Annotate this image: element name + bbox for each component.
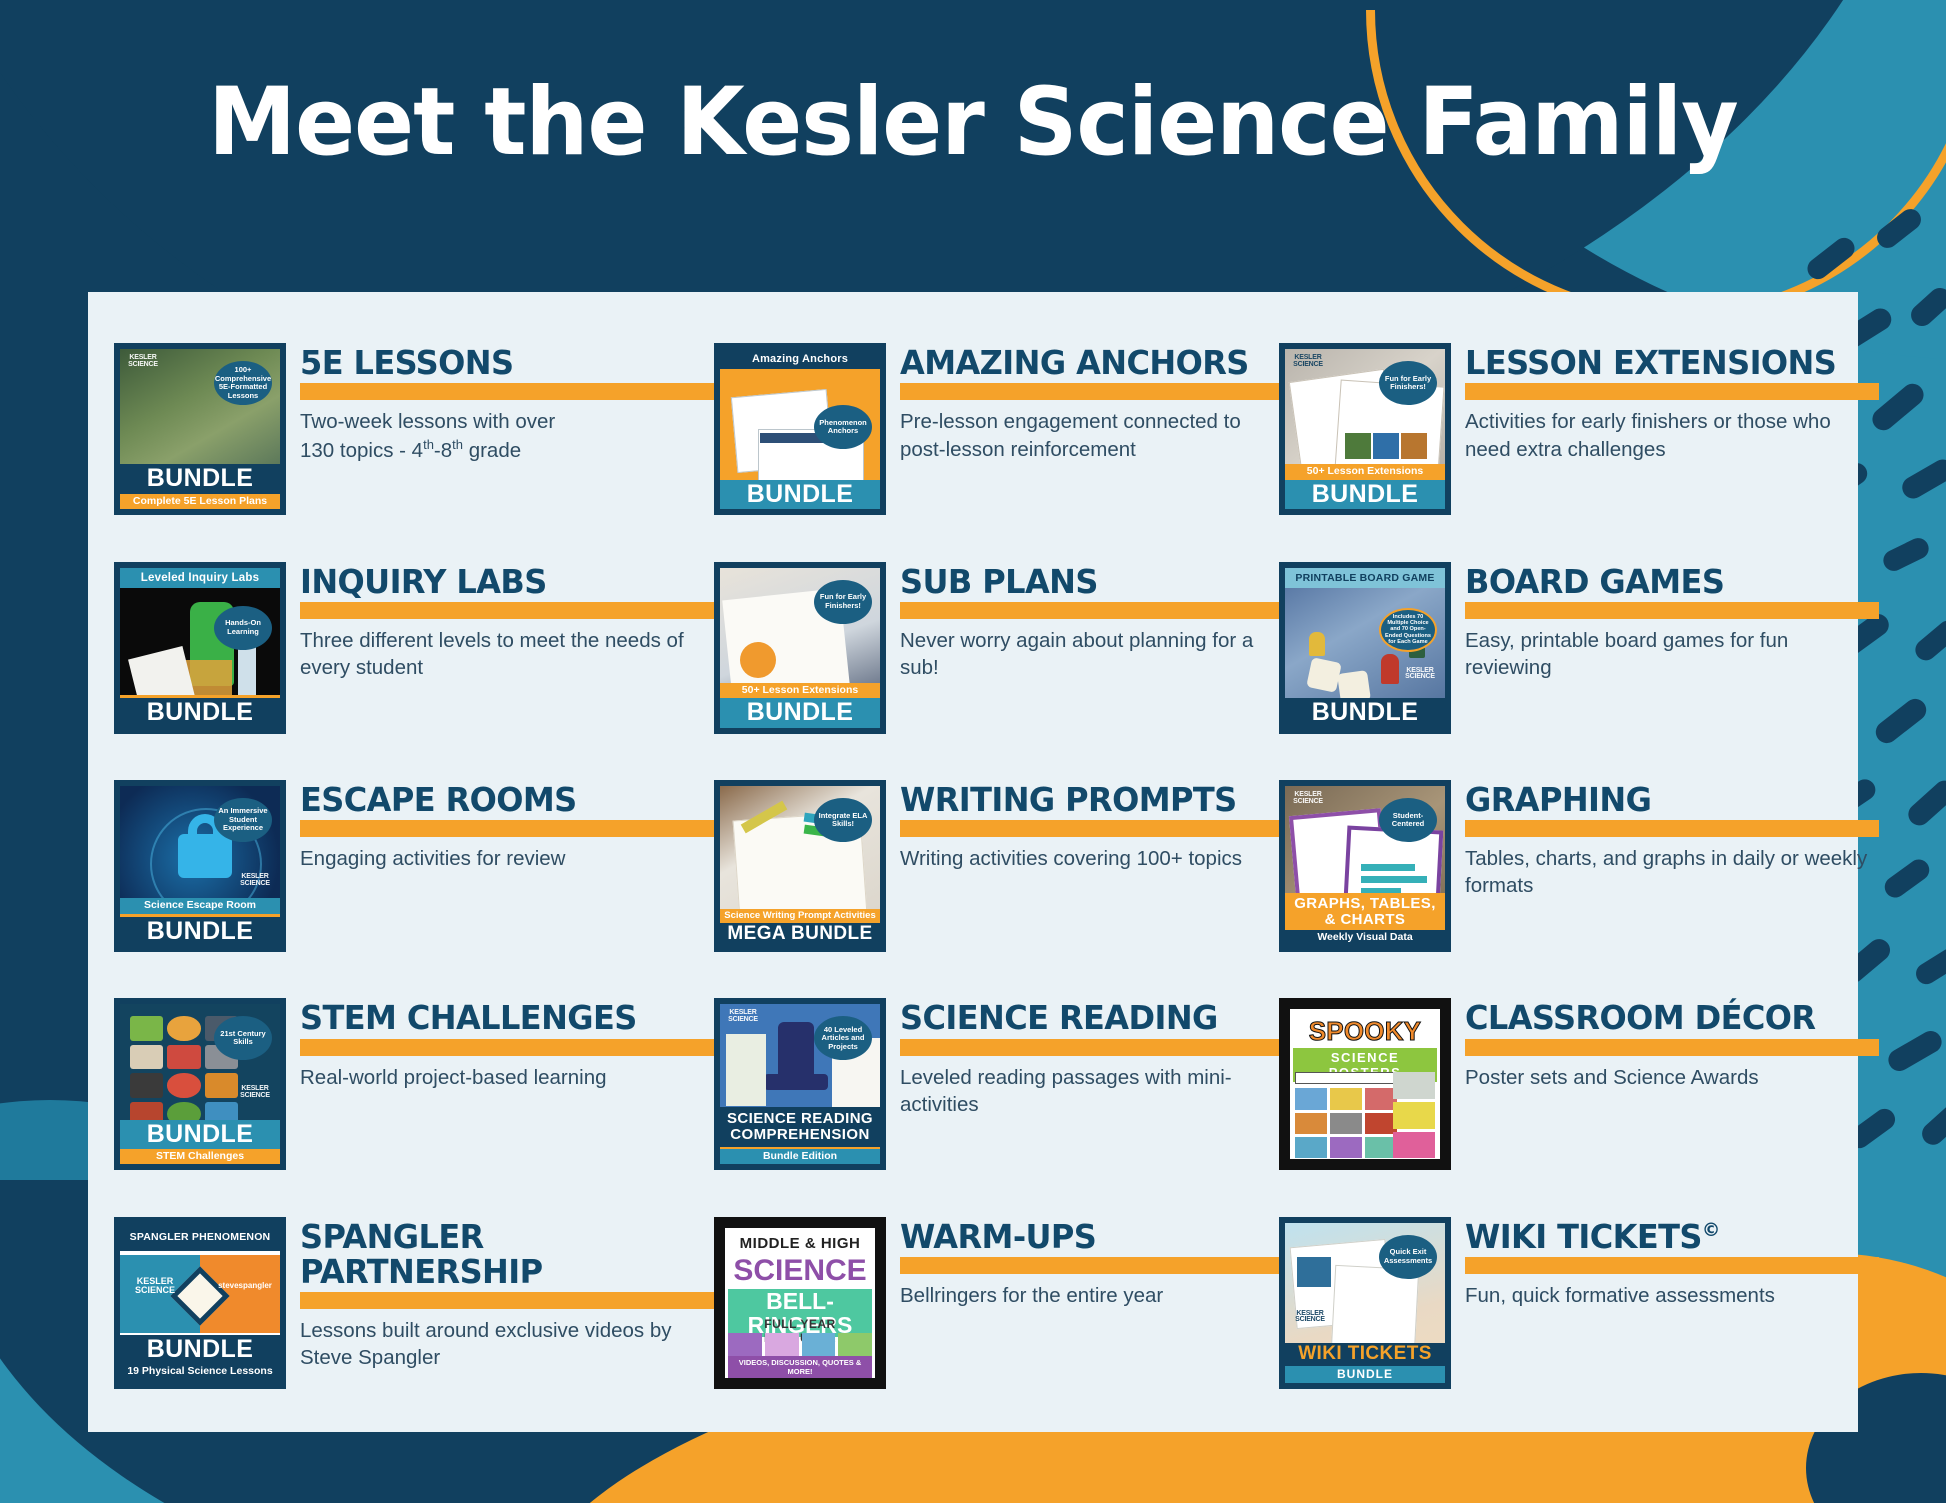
product-info: AMAZING ANCHORS Pre-lesson engagement co…	[900, 343, 1279, 462]
thumbnail-bundle-bar: Science Writing Prompt Activities MEGA B…	[720, 909, 880, 946]
page-title: Meet the Kesler Science Family	[58, 68, 1887, 177]
orange-underline	[300, 602, 714, 619]
product-description: Activities for early finishers or those …	[1465, 408, 1879, 462]
product-description: Lessons built around exclusive videos by…	[300, 1317, 714, 1371]
product-description: Three different levels to meet the needs…	[300, 627, 714, 681]
product-info: WIKI TICKETS© Fun, quick formative asses…	[1465, 1217, 1879, 1309]
orange-underline	[1465, 602, 1879, 619]
bundle-sublabel: Complete 5E Lesson Plans	[120, 494, 280, 510]
orange-underline	[900, 1257, 1279, 1274]
product-thumbnail-sub-plans[interactable]: Fun for Early Finishers! 50+ Lesson Exte…	[714, 562, 886, 734]
product-thumbnail-warm-ups[interactable]: MIDDLE & HIGH SCIENCE BELL-RINGERS FULL …	[714, 1217, 886, 1389]
kesler-science-logo-icon: KESLERSCIENCE	[238, 1086, 272, 1106]
thumbnail-bundle-bar: BUNDLE	[120, 695, 280, 727]
thumbnail-bundle-bar: 50+ Lesson Extensions BUNDLE	[1285, 464, 1445, 509]
product-description: Never worry again about planning for a s…	[900, 627, 1279, 681]
product-heading: ESCAPE ROOMS	[300, 782, 702, 817]
bundle-sublabel: BUNDLE	[1285, 1366, 1445, 1383]
thumbnail-badge: Fun for Early Finishers!	[1379, 361, 1437, 405]
product-info: 5E LESSONS Two-week lessons with over130…	[300, 343, 714, 463]
thumbnail-badge: Phenomenon Anchors	[814, 405, 872, 449]
product-thumbnail-inquiry-labs[interactable]: KESLERSCIENCE Leveled Inquiry Labs Hands…	[114, 562, 286, 734]
product-card-inquiry-labs[interactable]: KESLERSCIENCE Leveled Inquiry Labs Hands…	[114, 562, 714, 734]
poster-canvas: Meet the Kesler Science Family KESLERSCI…	[0, 0, 1946, 1503]
desc-line-2a: 130 topics - 4	[300, 438, 423, 461]
collage-caption: VIDEOS, DISCUSSION, QUOTES & MORE!	[728, 1356, 872, 1378]
thumbnail-top-tag: MIDDLE & HIGH	[728, 1231, 872, 1256]
bundle-label: WIKI TICKETS	[1285, 1343, 1445, 1366]
thumbnail-bundle-bar: 50+ Lesson Extensions BUNDLE	[720, 683, 880, 728]
thumbnail-bundle-bar: GRAPHS, TABLES, & CHARTS Weekly Visual D…	[1285, 893, 1445, 946]
bundle-sublabel: STEM Challenges	[120, 1149, 280, 1165]
product-card-writing-prompts[interactable]: Integrate ELA Skills! Science Writing Pr…	[714, 780, 1279, 952]
bundle-label: BUNDLE	[1285, 480, 1445, 509]
orange-underline	[900, 1039, 1279, 1056]
product-info: SPANGLER PARTNERSHIP Lessons built aroun…	[300, 1217, 714, 1372]
product-info: ESCAPE ROOMS Engaging activities for rev…	[300, 780, 714, 872]
kesler-science-logo-icon: KESLERSCIENCE	[1403, 668, 1437, 688]
product-description: Easy, printable board games for fun revi…	[1465, 627, 1879, 681]
product-thumbnail-lesson-extensions[interactable]: KESLERSCIENCE Fun for Early Finishers! 5…	[1279, 343, 1451, 515]
product-card-classroom-decor[interactable]: SPOOKY SCIENCE POSTERS CLASSROOM DÉCOR	[1279, 998, 1879, 1170]
product-description: Two-week lessons with over130 topics - 4…	[300, 408, 714, 463]
product-info: SUB PLANS Never worry again about planni…	[900, 562, 1279, 681]
poster-collage	[1295, 1088, 1397, 1158]
orange-underline	[300, 1039, 714, 1056]
kesler-science-logo-icon: KESLERSCIENCE	[726, 1010, 760, 1030]
thumbnail-badge: An Immersive Student Experience	[214, 798, 272, 842]
products-panel: KESLERSCIENCE 100+ Comprehensive 5E-Form…	[88, 292, 1858, 1432]
thumbnail-top-tag: Amazing Anchors	[720, 349, 880, 369]
product-description: Pre-lesson engagement connected to post-…	[900, 408, 1279, 462]
thumbnail-top-tag: PRINTABLE BOARD GAME	[1285, 568, 1445, 588]
product-heading: WIKI TICKETS©	[1465, 1219, 1867, 1254]
product-heading: WRITING PROMPTS	[900, 782, 1268, 817]
product-card-spangler-partnership[interactable]: KESLERSCIENCE stevespangler SPANGLER PHE…	[114, 1217, 714, 1389]
bundle-label: BUNDLE	[720, 698, 880, 727]
product-card-escape-rooms[interactable]: KESLERSCIENCE An Immersive Student Exper…	[114, 780, 714, 952]
product-card-graphing[interactable]: KESLERSCIENCE Student-Centered GRAPHS, T…	[1279, 780, 1879, 952]
bundle-sublabel: Bundle Edition	[720, 1149, 880, 1165]
product-description: Engaging activities for review	[300, 845, 714, 872]
product-heading: 5E LESSONS	[300, 345, 702, 380]
bundle-sublabel: 50+ Lesson Extensions	[720, 683, 880, 699]
thumbnail-badge: Fun for Early Finishers!	[814, 580, 872, 624]
product-description: Writing activities covering 100+ topics	[900, 845, 1279, 872]
thumbnail-badge: Hands-On Learning	[214, 606, 272, 650]
kesler-science-logo-icon: KESLERSCIENCE	[238, 874, 272, 894]
product-heading: WARM-UPS	[900, 1219, 1268, 1254]
product-thumbnail-classroom-decor[interactable]: SPOOKY SCIENCE POSTERS	[1279, 998, 1451, 1170]
kesler-science-logo-icon: KESLERSCIENCE	[1293, 1311, 1327, 1331]
thumbnail-top-tag: SPOOKY	[1293, 1012, 1437, 1051]
bundle-label: BUNDLE	[120, 1120, 280, 1149]
product-heading: INQUIRY LABS	[300, 564, 702, 599]
thumbnail-bundle-bar: WIKI TICKETS BUNDLE	[1285, 1343, 1445, 1383]
kesler-science-logo-icon: KESLERSCIENCE	[1291, 355, 1325, 375]
product-info: GRAPHING Tables, charts, and graphs in d…	[1465, 780, 1879, 899]
thumbnail-bundle-bar: BUNDLE 19 Physical Science Lessons	[120, 1335, 280, 1383]
thumbnail-bundle-bar: BUNDLE	[1285, 698, 1445, 727]
product-card-sub-plans[interactable]: Fun for Early Finishers! 50+ Lesson Exte…	[714, 562, 1279, 734]
product-thumbnail-wiki-tickets[interactable]: KESLERSCIENCE Quick Exit Assessments WIK…	[1279, 1217, 1451, 1389]
product-description: Leveled reading passages with mini-activ…	[900, 1064, 1279, 1118]
product-info: LESSON EXTENSIONS Activities for early f…	[1465, 343, 1879, 462]
product-info: BOARD GAMES Easy, printable board games …	[1465, 562, 1879, 681]
product-heading: SPANGLER PARTNERSHIP	[300, 1219, 702, 1290]
product-description: Poster sets and Science Awards	[1465, 1064, 1879, 1091]
thumbnail-bundle-bar: SCIENCE READING COMPREHENSION Bundle Edi…	[720, 1107, 880, 1164]
product-description: Fun, quick formative assessments	[1465, 1282, 1879, 1309]
thumbnail-badge: Student-Centered	[1379, 798, 1437, 842]
product-description: Real-world project-based learning	[300, 1064, 714, 1091]
bundle-label: MEGA BUNDLE	[720, 923, 880, 946]
product-card-lesson-extensions[interactable]: KESLERSCIENCE Fun for Early Finishers! 5…	[1279, 343, 1879, 515]
desc-line-1: Two-week lessons with over	[300, 410, 555, 433]
bundle-sublabel: 19 Physical Science Lessons	[120, 1364, 280, 1383]
orange-underline	[900, 383, 1279, 400]
product-heading: BOARD GAMES	[1465, 564, 1867, 599]
product-card-5e-lessons[interactable]: KESLERSCIENCE 100+ Comprehensive 5E-Form…	[114, 343, 714, 515]
kesler-science-logo-icon: KESLERSCIENCE	[1291, 792, 1325, 812]
orange-underline	[300, 820, 714, 837]
orange-underline	[1465, 383, 1879, 400]
orange-underline	[1465, 1039, 1879, 1056]
product-info: INQUIRY LABS Three different levels to m…	[300, 562, 714, 681]
product-thumbnail-5e-lessons[interactable]: KESLERSCIENCE 100+ Comprehensive 5E-Form…	[114, 343, 286, 515]
product-description: Tables, charts, and graphs in daily or w…	[1465, 845, 1879, 899]
kesler-science-logo-icon: KESLERSCIENCE	[126, 355, 160, 375]
product-heading: SUB PLANS	[900, 564, 1268, 599]
product-info: STEM CHALLENGES Real-world project-based…	[300, 998, 714, 1090]
product-heading: SCIENCE READING	[900, 1000, 1268, 1035]
kesler-science-logo-icon: KESLERSCIENCE	[128, 1277, 182, 1296]
product-card-warm-ups[interactable]: MIDDLE & HIGH SCIENCE BELL-RINGERS FULL …	[714, 1217, 1279, 1389]
product-info: WARM-UPS Bellringers for the entire year	[900, 1217, 1279, 1309]
desc-line-2b: -8	[434, 438, 452, 461]
product-card-stem-challenges[interactable]: KESLERSCIENCE 21st Century Skills BUNDLE…	[114, 998, 714, 1170]
copyright-symbol: ©	[1702, 1219, 1720, 1241]
product-thumbnail-writing-prompts[interactable]: Integrate ELA Skills! Science Writing Pr…	[714, 780, 886, 952]
bundle-label: BUNDLE	[120, 698, 280, 727]
bundle-sublabel: Weekly Visual Data	[1285, 930, 1445, 946]
bundle-label: BUNDLE	[1285, 698, 1445, 727]
thumbnail-bundle-bar: BUNDLE Complete 5E Lesson Plans	[120, 464, 280, 509]
thumbnail-badge: 100+ Comprehensive 5E-Formatted Lessons	[214, 361, 272, 405]
product-heading: GRAPHING	[1465, 782, 1867, 817]
product-heading-text: WIKI TICKETS	[1465, 1217, 1702, 1256]
thumbnail-bundle-bar: BUNDLE STEM Challenges	[120, 1120, 280, 1165]
product-heading: STEM CHALLENGES	[300, 1000, 702, 1035]
thumbnail-badge: Includes 70 Multiple Choice and 70 Open-…	[1379, 608, 1437, 652]
product-description: Bellringers for the entire year	[900, 1282, 1279, 1309]
desc-sup-1: th	[423, 437, 434, 452]
bundle-sublabel: 50+ Lesson Extensions	[1285, 464, 1445, 480]
product-thumbnail-science-reading[interactable]: KESLERSCIENCE 40 Leveled Articles and Pr…	[714, 998, 886, 1170]
bundle-label: SCIENCE READING COMPREHENSION	[720, 1107, 880, 1147]
product-heading: CLASSROOM DÉCOR	[1465, 1000, 1867, 1035]
product-info: CLASSROOM DÉCOR Poster sets and Science …	[1465, 998, 1879, 1090]
product-thumbnail-stem-challenges[interactable]: KESLERSCIENCE 21st Century Skills BUNDLE…	[114, 998, 286, 1170]
orange-underline	[300, 383, 714, 400]
steve-spangler-logo-icon: stevespangler	[216, 1281, 274, 1290]
orange-underline	[1465, 1257, 1879, 1274]
product-thumbnail-escape-rooms[interactable]: KESLERSCIENCE An Immersive Student Exper…	[114, 780, 286, 952]
desc-sup-2: th	[452, 437, 463, 452]
product-info: WRITING PROMPTS Writing activities cover…	[900, 780, 1279, 872]
orange-underline	[1465, 820, 1879, 837]
product-card-board-games[interactable]: KESLERSCIENCE PRINTABLE BOARD GAME Inclu…	[1279, 562, 1879, 734]
science-word: SCIENCE	[728, 1257, 872, 1286]
product-card-science-reading[interactable]: KESLERSCIENCE 40 Leveled Articles and Pr…	[714, 998, 1279, 1170]
bundle-label: GRAPHS, TABLES, & CHARTS	[1285, 893, 1445, 931]
bundle-label: BUNDLE	[120, 917, 280, 946]
bundle-label: BUNDLE	[120, 464, 280, 493]
bundle-sublabel: Science Writing Prompt Activities	[720, 909, 880, 923]
orange-underline	[300, 1292, 714, 1309]
orange-underline	[900, 820, 1279, 837]
bundle-label: BUNDLE	[720, 480, 880, 509]
product-info: SCIENCE READING Leveled reading passages…	[900, 998, 1279, 1117]
bundle-label: BUNDLE	[120, 1335, 280, 1364]
thumbnail-top-tag: Leveled Inquiry Labs	[120, 568, 280, 588]
thumbnail-bundle-bar: BUNDLE	[720, 480, 880, 509]
thumbnail-badge: Integrate ELA Skills!	[814, 798, 872, 842]
product-thumbnail-amazing-anchors[interactable]: Amazing Anchors Phenomenon Anchors BUNDL…	[714, 343, 886, 515]
product-card-amazing-anchors[interactable]: Amazing Anchors Phenomenon Anchors BUNDL…	[714, 343, 1279, 515]
thumbnail-top-tag: SPANGLER PHENOMENON	[120, 1223, 280, 1251]
thumbnail-badge: Quick Exit Assessments	[1379, 1235, 1437, 1279]
products-grid: KESLERSCIENCE 100+ Comprehensive 5E-Form…	[114, 320, 1832, 1412]
orange-underline	[900, 602, 1279, 619]
thumbnail-bundle-bar: Science Escape Room BUNDLE	[120, 898, 280, 946]
product-thumbnail-spangler[interactable]: KESLERSCIENCE stevespangler SPANGLER PHE…	[114, 1217, 286, 1389]
desc-line-2c: grade	[463, 438, 521, 461]
product-thumbnail-graphing[interactable]: KESLERSCIENCE Student-Centered GRAPHS, T…	[1279, 780, 1451, 952]
product-heading: AMAZING ANCHORS	[900, 345, 1268, 380]
product-heading: LESSON EXTENSIONS	[1465, 345, 1867, 380]
product-card-wiki-tickets[interactable]: KESLERSCIENCE Quick Exit Assessments WIK…	[1279, 1217, 1879, 1389]
bundle-sublabel: Science Escape Room	[120, 898, 280, 914]
product-thumbnail-board-games[interactable]: KESLERSCIENCE PRINTABLE BOARD GAME Inclu…	[1279, 562, 1451, 734]
